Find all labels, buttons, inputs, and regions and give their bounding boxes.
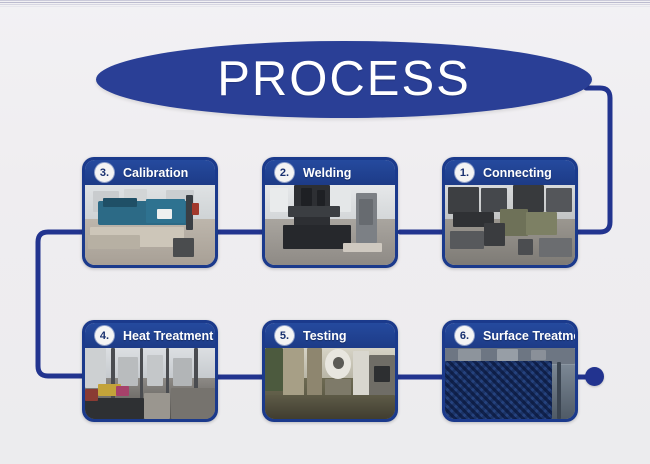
- surface-treatment-mesh-photo: [445, 348, 575, 419]
- step-card-calibration[interactable]: 3. Calibration: [82, 157, 218, 268]
- step-header-calibration: 3. Calibration: [85, 160, 215, 185]
- step-label: Surface Treatment: [483, 329, 575, 343]
- welding-machine-photo: [265, 185, 395, 265]
- step-number-badge: 2.: [275, 163, 294, 182]
- testing-equipment-photo: [265, 348, 395, 419]
- step-label: Calibration: [123, 166, 188, 180]
- step-label: Welding: [303, 166, 351, 180]
- step-header-testing: 5. Testing: [265, 323, 395, 348]
- step-number-badge: 4.: [95, 326, 114, 345]
- step-label: Connecting: [483, 166, 552, 180]
- calibration-machine-photo: [85, 185, 215, 265]
- step-label: Testing: [303, 329, 347, 343]
- connecting-machine-photo: [445, 185, 575, 265]
- process-title-banner: PROCESS: [96, 41, 592, 118]
- heat-treatment-furnace-photo: [85, 348, 215, 419]
- flow-end-dot: [585, 367, 604, 386]
- step-number-badge: 5.: [275, 326, 294, 345]
- step-card-welding[interactable]: 2. Welding: [262, 157, 398, 268]
- step-number-badge: 6.: [455, 326, 474, 345]
- step-card-heat-treatment[interactable]: 4. Heat Treatment: [82, 320, 218, 422]
- step-header-connecting: 1. Connecting: [445, 160, 575, 185]
- step-number-badge: 3.: [95, 163, 114, 182]
- page-title: PROCESS: [96, 50, 592, 106]
- step-card-connecting[interactable]: 1. Connecting: [442, 157, 578, 268]
- step-header-welding: 2. Welding: [265, 160, 395, 185]
- step-card-surface-treatment[interactable]: 6. Surface Treatment: [442, 320, 578, 422]
- step-header-surface-treatment: 6. Surface Treatment: [445, 323, 575, 348]
- step-header-heat-treatment: 4. Heat Treatment: [85, 323, 215, 348]
- top-decorative-band: [0, 0, 650, 7]
- step-card-testing[interactable]: 5. Testing: [262, 320, 398, 422]
- step-label: Heat Treatment: [123, 329, 213, 343]
- step-number-badge: 1.: [455, 163, 474, 182]
- process-diagram-canvas: PROCESS 3. Calibration: [0, 0, 650, 464]
